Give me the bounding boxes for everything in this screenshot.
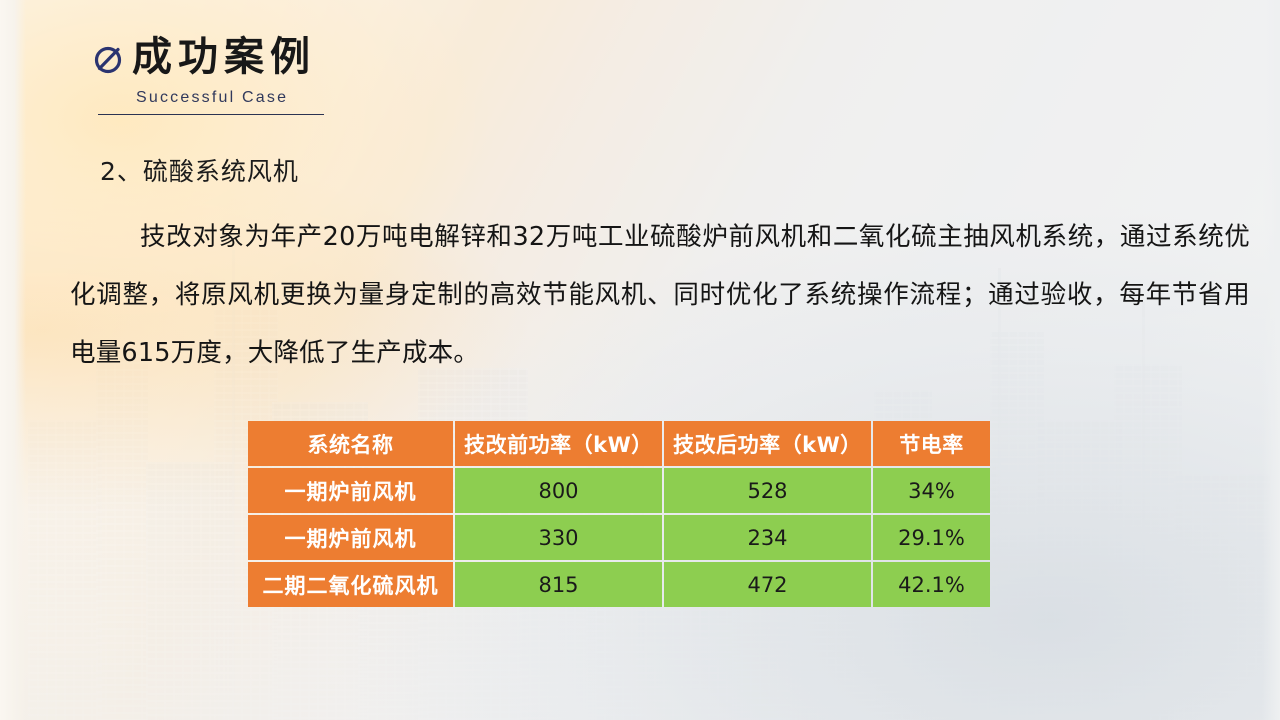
page-subtitle: Successful Case	[136, 89, 324, 107]
results-table: 系统名称 技改前功率（kW） 技改后功率（kW） 节电率 一期炉前风机 800 …	[246, 419, 992, 609]
cell-saving-rate: 34%	[873, 468, 990, 513]
section-heading: 2、硫酸系统风机	[100, 152, 299, 188]
table-row: 一期炉前风机 330 234 29.1%	[248, 515, 990, 560]
cell-saving-rate: 42.1%	[873, 562, 990, 607]
background-right-edge	[1262, 0, 1280, 720]
table-row: 一期炉前风机 800 528 34%	[248, 468, 990, 513]
page-title: 成功案例	[132, 36, 316, 79]
cell-system-name: 一期炉前风机	[248, 515, 453, 560]
cell-power-before: 815	[455, 562, 662, 607]
cell-saving-rate: 29.1%	[873, 515, 990, 560]
cell-power-after: 472	[664, 562, 871, 607]
null-slash-circle-icon	[92, 43, 126, 77]
column-header-power-after: 技改后功率（kW）	[664, 421, 871, 466]
table-row: 二期二氧化硫风机 815 472 42.1%	[248, 562, 990, 607]
body-paragraph: 技改对象为年产20万吨电解锌和32万吨工业硫酸炉前风机和二氧化硫主抽风机系统，通…	[70, 208, 1250, 382]
cell-power-before: 330	[455, 515, 662, 560]
slide-title-block: 成功案例 Successful Case	[92, 36, 324, 115]
title-divider	[98, 114, 324, 115]
cell-system-name: 二期二氧化硫风机	[248, 562, 453, 607]
cell-power-before: 800	[455, 468, 662, 513]
cell-power-after: 528	[664, 468, 871, 513]
cell-power-after: 234	[664, 515, 871, 560]
column-header-power-before: 技改前功率（kW）	[455, 421, 662, 466]
column-header-saving-rate: 节电率	[873, 421, 990, 466]
background-left-edge	[0, 0, 26, 720]
results-table-wrapper: 系统名称 技改前功率（kW） 技改后功率（kW） 节电率 一期炉前风机 800 …	[246, 419, 992, 609]
table-header-row: 系统名称 技改前功率（kW） 技改后功率（kW） 节电率	[248, 421, 990, 466]
slide-canvas: 成功案例 Successful Case 2、硫酸系统风机 技改对象为年产20万…	[0, 0, 1280, 720]
cell-system-name: 一期炉前风机	[248, 468, 453, 513]
column-header-system-name: 系统名称	[248, 421, 453, 466]
